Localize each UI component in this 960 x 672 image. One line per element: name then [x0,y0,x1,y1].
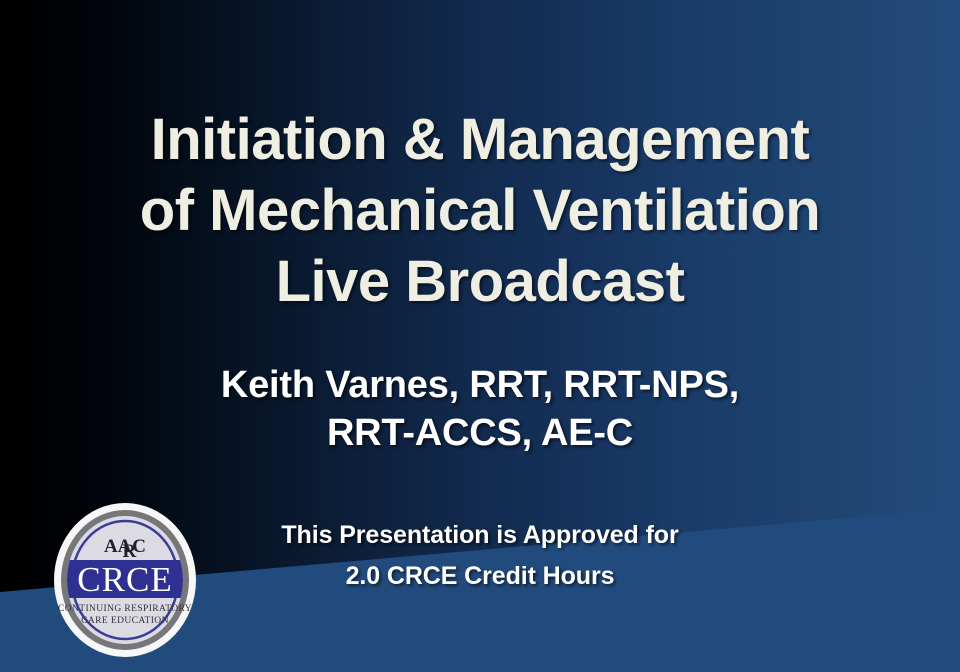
presenter-name: Keith Varnes, RRT, RRT-NPS, RRT-ACCS, AE… [0,361,960,457]
approval-line-2: 2.0 CRCE Credit Hours [120,556,840,597]
presenter-line-1: Keith Varnes, RRT, RRT-NPS, [0,361,960,409]
crce-seal-logo: AARC CRCE CONTINUING RESPIRATORY CARE ED… [51,500,199,660]
credit-approval-note: This Presentation is Approved for 2.0 CR… [120,515,840,597]
approval-line-1: This Presentation is Approved for [120,515,840,556]
title-line-3: Live Broadcast [0,246,960,317]
crce-tagline-line2: CARE EDUCATION [81,616,169,626]
page-title: Initiation & Management of Mechanical Ve… [0,104,960,317]
presenter-line-2: RRT-ACCS, AE-C [0,409,960,457]
crce-acronym-text: CRCE [77,560,172,599]
title-slide: Initiation & Management of Mechanical Ve… [0,0,960,672]
title-line-1: Initiation & Management [0,104,960,175]
title-line-2: of Mechanical Ventilation [0,175,960,246]
crce-tagline-line1: CONTINUING RESPIRATORY [58,604,192,614]
